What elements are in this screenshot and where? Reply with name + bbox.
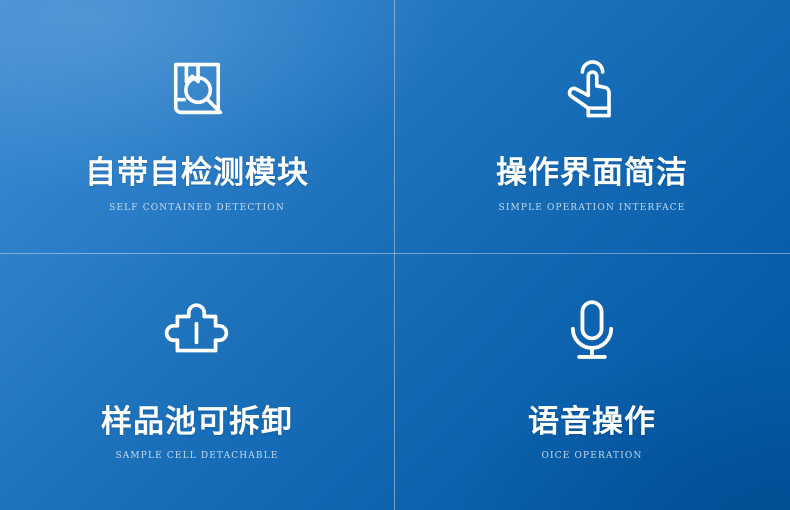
feature-title: 自带自检测模块 (85, 156, 309, 190)
feature-grid: 自带自检测模块 SELF CONTAINED DETECTION (0, 0, 790, 510)
feature-subtitle: SIMPLE OPERATION INTERFACE (499, 203, 686, 213)
vertical-divider (394, 0, 395, 510)
horizontal-divider (0, 253, 790, 254)
feature-subtitle: SELF CONTAINED DETECTION (109, 203, 285, 213)
feature-card-voice-operation[interactable]: 语音操作 OICE OPERATION (394, 253, 790, 510)
microphone-icon (553, 291, 631, 373)
feature-card-simple-interface[interactable]: 操作界面简洁 SIMPLE OPERATION INTERFACE (394, 0, 790, 253)
feature-subtitle: OICE OPERATION (542, 451, 643, 461)
feature-title: 语音操作 (528, 405, 656, 439)
hand-tap-icon (553, 48, 631, 130)
feature-card-detachable-cell[interactable]: 样品池可拆卸 SAMPLE CELL DETACHABLE (0, 253, 394, 510)
puzzle-piece-icon (158, 291, 236, 373)
feature-subtitle: SAMPLE CELL DETACHABLE (115, 451, 278, 461)
feature-title: 样品池可拆卸 (101, 405, 293, 439)
feature-card-self-detection[interactable]: 自带自检测模块 SELF CONTAINED DETECTION (0, 0, 394, 253)
feature-highlights-panel: 自带自检测模块 SELF CONTAINED DETECTION (0, 0, 790, 510)
book-search-icon (158, 48, 236, 130)
feature-title: 操作界面简洁 (496, 156, 688, 190)
